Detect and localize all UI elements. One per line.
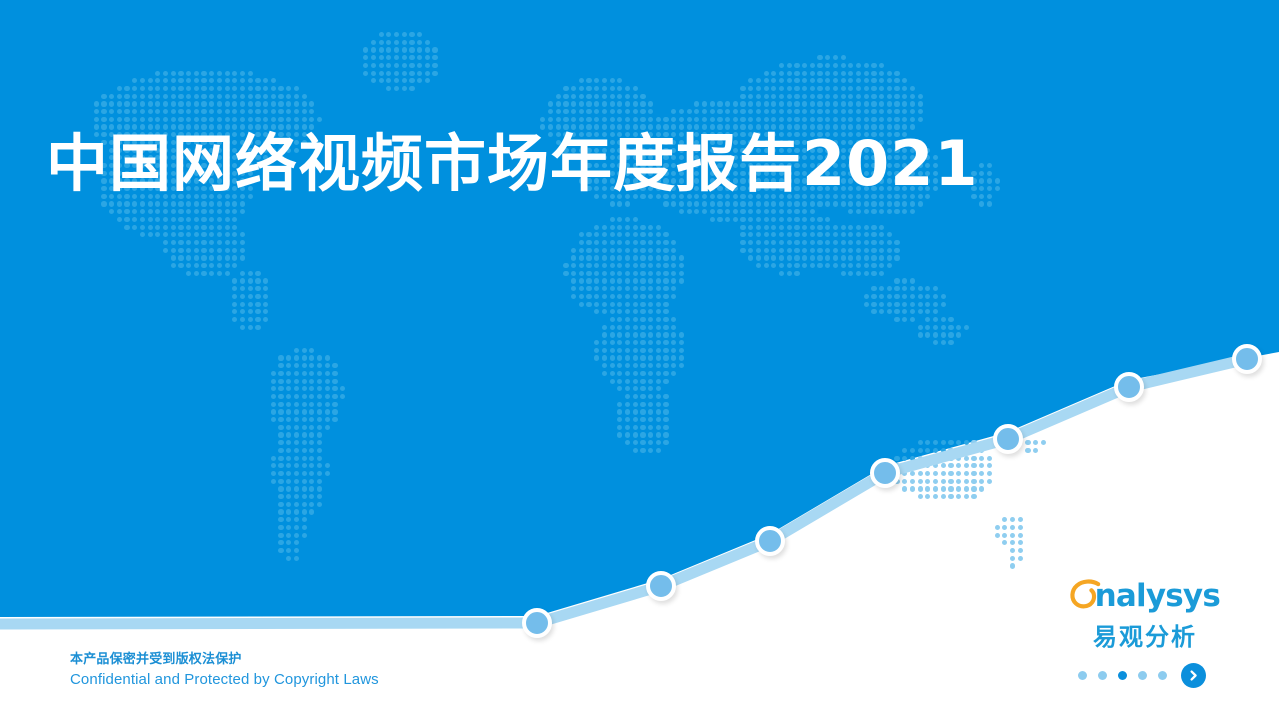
world-map-dot (925, 494, 930, 499)
world-map-dot (941, 456, 946, 461)
world-map-dot (971, 463, 976, 468)
world-map-dot (918, 463, 923, 468)
world-map-dot (964, 494, 969, 499)
world-map-dot (933, 479, 938, 484)
pagination-dot-1[interactable] (1078, 671, 1087, 680)
world-map-dot (1002, 540, 1007, 545)
analysys-logo: nalysys 易观分析 (1070, 578, 1220, 652)
world-map-dot (956, 456, 961, 461)
world-map-dot (918, 479, 923, 484)
world-map-dot (964, 456, 969, 461)
world-map-dot (1010, 540, 1015, 545)
world-map-dot (941, 479, 946, 484)
world-map-dot (941, 486, 946, 491)
world-map-dot (948, 463, 953, 468)
world-map-dot (971, 494, 976, 499)
world-map-dot (1010, 533, 1015, 538)
world-map-dot (956, 471, 961, 476)
logo-wordmark: nalysys (1095, 578, 1220, 614)
world-map-dot (964, 463, 969, 468)
world-map-dot (1002, 525, 1007, 530)
world-map-dot (979, 486, 984, 491)
world-map-dot (956, 486, 961, 491)
copyright-footer: 本产品保密并受到版权法保护 Confidential and Protected… (70, 650, 379, 691)
world-map-dot (933, 486, 938, 491)
world-map-dot (956, 479, 961, 484)
world-map-dot (933, 494, 938, 499)
world-map-dot (948, 448, 953, 453)
world-map-dot (948, 479, 953, 484)
chart-marker-6 (1114, 372, 1144, 402)
world-map-dot (918, 486, 923, 491)
world-map-dot (971, 448, 976, 453)
pagination-dot-5[interactable] (1158, 671, 1167, 680)
world-map-dot (1018, 540, 1023, 545)
chart-marker-7 (1232, 344, 1262, 374)
pagination-dot-2[interactable] (1098, 671, 1107, 680)
world-map-dot (941, 494, 946, 499)
world-map-dot (933, 463, 938, 468)
world-map-dot (964, 448, 969, 453)
world-map-dot (1018, 517, 1023, 522)
logo-wordmark-row: nalysys (1070, 578, 1220, 614)
world-map-dot (956, 463, 961, 468)
pagination-dot-4[interactable] (1138, 671, 1147, 680)
world-map-dot (902, 463, 907, 468)
world-map-dot (979, 456, 984, 461)
world-map-dot (1002, 533, 1007, 538)
world-map-dot (979, 463, 984, 468)
world-map-dot (979, 471, 984, 476)
world-map-dot (987, 479, 992, 484)
next-slide-button[interactable] (1181, 663, 1206, 688)
world-map-dot (1002, 517, 1007, 522)
world-map-dot (964, 479, 969, 484)
world-map-dot (964, 471, 969, 476)
world-map-dot (933, 456, 938, 461)
copyright-en: Confidential and Protected by Copyright … (70, 669, 379, 691)
world-map-dot (971, 479, 976, 484)
world-map-dot (995, 525, 1000, 530)
world-map-dot (1018, 556, 1023, 561)
world-map-dot (925, 463, 930, 468)
world-map-dot (918, 471, 923, 476)
world-map-dot (941, 463, 946, 468)
world-map-dot (1025, 448, 1030, 453)
world-map-dot (1041, 440, 1046, 445)
world-map-dot (910, 463, 915, 468)
slide-cover: 中国网络视频市场年度报告2021 本产品保密并受到版权法保护 Confident… (0, 0, 1279, 719)
world-map-dot (902, 486, 907, 491)
world-map-dot (971, 471, 976, 476)
world-map-dot (1033, 440, 1038, 445)
world-map-dot (1010, 525, 1015, 530)
world-map-dot (987, 456, 992, 461)
world-map-dot (902, 479, 907, 484)
pagination[interactable] (1078, 663, 1206, 688)
world-map-dot (925, 479, 930, 484)
world-map-dot (910, 479, 915, 484)
world-map-dot (987, 471, 992, 476)
chart-marker-1 (522, 608, 552, 638)
world-map-dot (948, 486, 953, 491)
world-map-dot (902, 471, 907, 476)
page-title: 中国网络视频市场年度报告2021 (46, 128, 979, 199)
logo-wordmark-cn: 易观分析 (1070, 617, 1220, 652)
world-map-dot (956, 494, 961, 499)
world-map-dot (933, 471, 938, 476)
world-map-dot (971, 456, 976, 461)
world-map-dot (910, 486, 915, 491)
world-map-dot (964, 486, 969, 491)
copyright-cn: 本产品保密并受到版权法保护 (70, 650, 379, 669)
world-map-dot (1018, 525, 1023, 530)
world-map-dot (1010, 563, 1015, 568)
world-map-dot (948, 494, 953, 499)
world-map-dot (918, 494, 923, 499)
world-map-dot (1018, 533, 1023, 538)
world-map-dot (1018, 548, 1023, 553)
world-map-dot (987, 463, 992, 468)
world-map-dot (1010, 548, 1015, 553)
world-map-dot (948, 471, 953, 476)
world-map-dot (979, 448, 984, 453)
chevron-right-icon (1187, 669, 1200, 682)
world-map-dot (910, 471, 915, 476)
world-map-dot (1010, 517, 1015, 522)
chart-marker-3 (755, 526, 785, 556)
world-map-dot (925, 471, 930, 476)
world-map-dot (925, 456, 930, 461)
world-map-dot (1010, 556, 1015, 561)
world-map-dot (948, 456, 953, 461)
world-map-dot (1033, 448, 1038, 453)
world-map-dot (925, 486, 930, 491)
world-map-dot (956, 448, 961, 453)
pagination-dot-3[interactable] (1118, 671, 1127, 680)
world-map-dot (971, 486, 976, 491)
chart-marker-4 (870, 458, 900, 488)
world-map-dot (979, 479, 984, 484)
chart-marker-5 (993, 424, 1023, 454)
world-map-dot (941, 471, 946, 476)
world-map-dot (995, 533, 1000, 538)
world-map-dot (1025, 440, 1030, 445)
chart-marker-2 (646, 571, 676, 601)
